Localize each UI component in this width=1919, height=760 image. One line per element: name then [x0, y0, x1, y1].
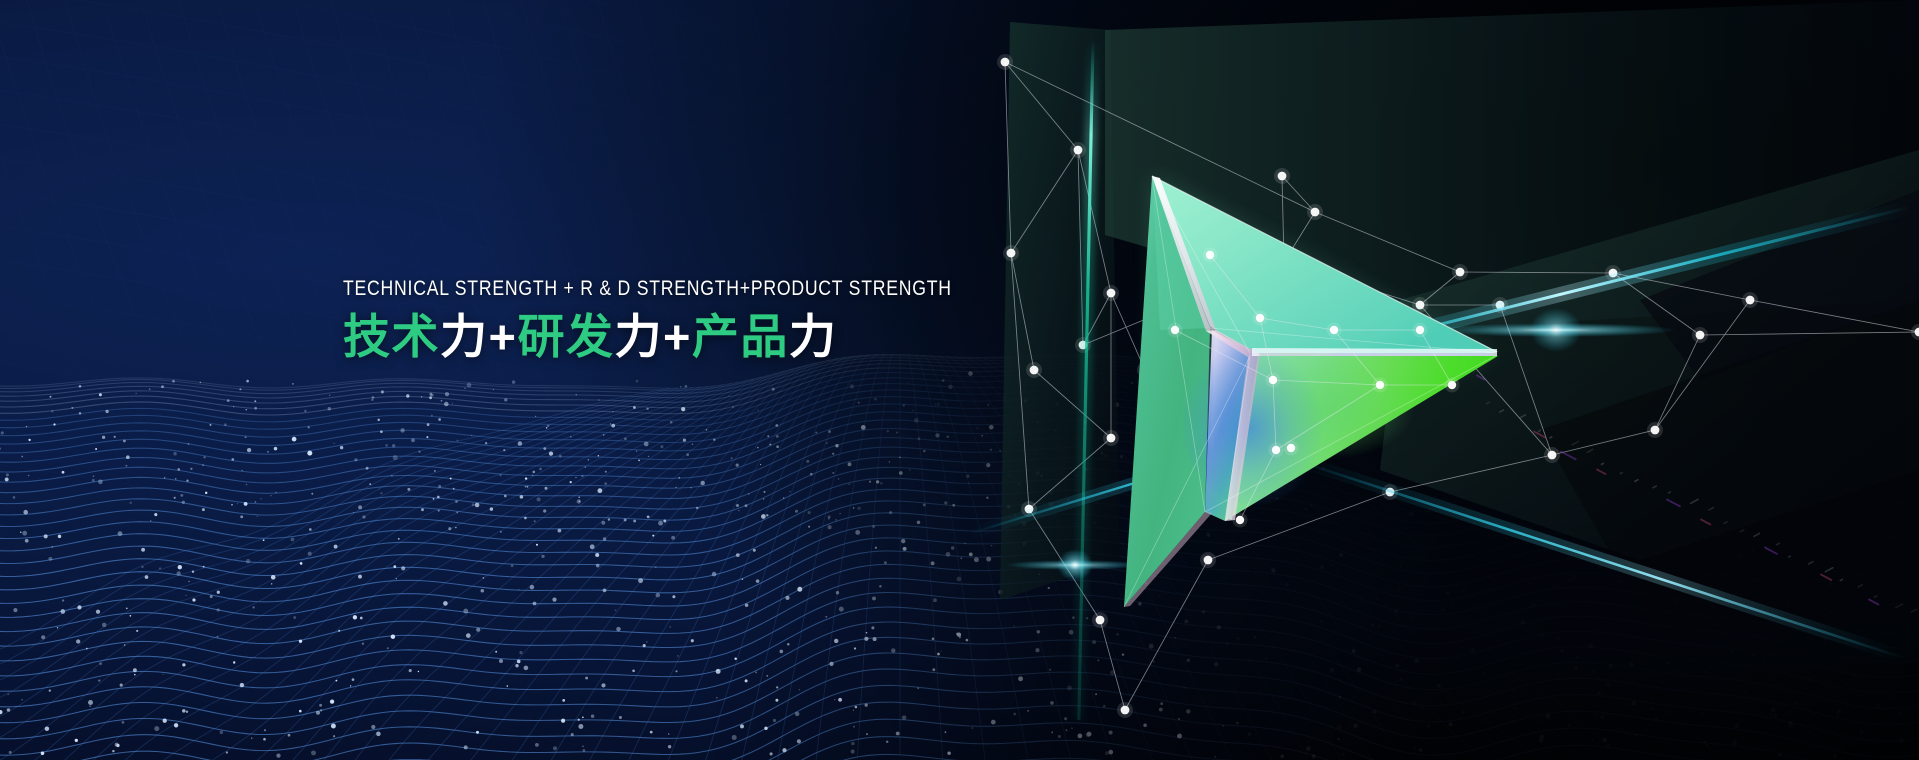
network-node-17: [1651, 426, 1660, 435]
background-gradient: [0, 0, 1919, 760]
network-node-fg-2: [1269, 376, 1277, 384]
title-segment-6: 产品: [692, 310, 789, 363]
network-node-19: [1386, 488, 1395, 497]
prism-left-face: [1124, 176, 1210, 607]
network-node-21: [1141, 366, 1150, 375]
network-node-fg-8: [1171, 326, 1179, 334]
prism-top-face: [1152, 176, 1496, 353]
network-node-4: [1030, 366, 1039, 375]
hero-banner: TECHNICAL STRENGTH + R & D STRENGTH+PROD…: [0, 0, 1919, 760]
title-segment-5: +: [663, 310, 692, 363]
title-segment-0: 技术: [343, 310, 440, 363]
prism-inner-face: [1205, 330, 1252, 521]
prism-arrow-graphic: [0, 0, 1919, 760]
network-node-2: [1007, 249, 1016, 258]
network-node-16: [1696, 331, 1705, 340]
network-node-fg-5: [1376, 381, 1384, 389]
network-node-22: [1278, 172, 1287, 181]
network-node-6: [1025, 505, 1034, 514]
network-node-13: [1416, 301, 1425, 310]
network-node-fg-6: [1448, 381, 1456, 389]
network-node-fg-10: [1416, 326, 1424, 334]
right-dark-overlay: [0, 0, 1919, 760]
network-node-23: [1746, 296, 1755, 305]
subtitle-english: TECHNICAL STRENGTH + R & D STRENGTH+PROD…: [343, 276, 931, 302]
network-node-18: [1548, 451, 1557, 460]
network-node-3: [1107, 289, 1116, 298]
network-node-7: [1096, 616, 1105, 625]
light-streaks: [0, 0, 1919, 760]
wave-mesh-surface: [0, 0, 1919, 760]
network-node-fg-0: [1256, 314, 1264, 322]
network-node-9: [1079, 341, 1088, 350]
prism-lower-face: [1225, 356, 1498, 521]
title-segment-4: 力: [614, 310, 663, 363]
network-wireframe: [0, 0, 1919, 760]
dark-geometry-slabs: [0, 0, 1919, 760]
network-node-fg-1: [1330, 326, 1338, 334]
prism-shadow-face: [1150, 345, 1495, 520]
network-node-20: [1204, 556, 1213, 565]
network-node-10: [1311, 208, 1320, 217]
network-node-15: [1609, 269, 1618, 278]
network-node-0: [1001, 58, 1010, 67]
network-node-fg-4: [1287, 444, 1295, 452]
network-node-fg-9: [1236, 516, 1244, 524]
title-segment-3: 研发: [517, 310, 614, 363]
network-node-1: [1074, 146, 1083, 155]
network-node-12: [1456, 268, 1465, 277]
title-chinese: 技术力+研发力+产品力: [343, 308, 1043, 366]
network-node-5: [1107, 434, 1116, 443]
network-node-24: [1915, 328, 1919, 337]
background-grid: [0, 0, 1919, 760]
network-node-14: [1496, 301, 1505, 310]
title-segment-2: +: [489, 310, 518, 363]
prism-spine-highlight: [1152, 176, 1216, 331]
particle-field: [0, 0, 1919, 760]
network-node-8: [1121, 706, 1130, 715]
network-node-fg-3: [1272, 446, 1280, 454]
title-segment-7: 力: [789, 310, 838, 363]
title-segment-1: 力: [440, 310, 489, 363]
network-node-fg-7: [1206, 251, 1214, 259]
network-node-11: [1280, 258, 1289, 267]
network-nodes-foreground: [0, 0, 1919, 760]
headline-block: TECHNICAL STRENGTH + R & D STRENGTH+PROD…: [343, 276, 1043, 366]
